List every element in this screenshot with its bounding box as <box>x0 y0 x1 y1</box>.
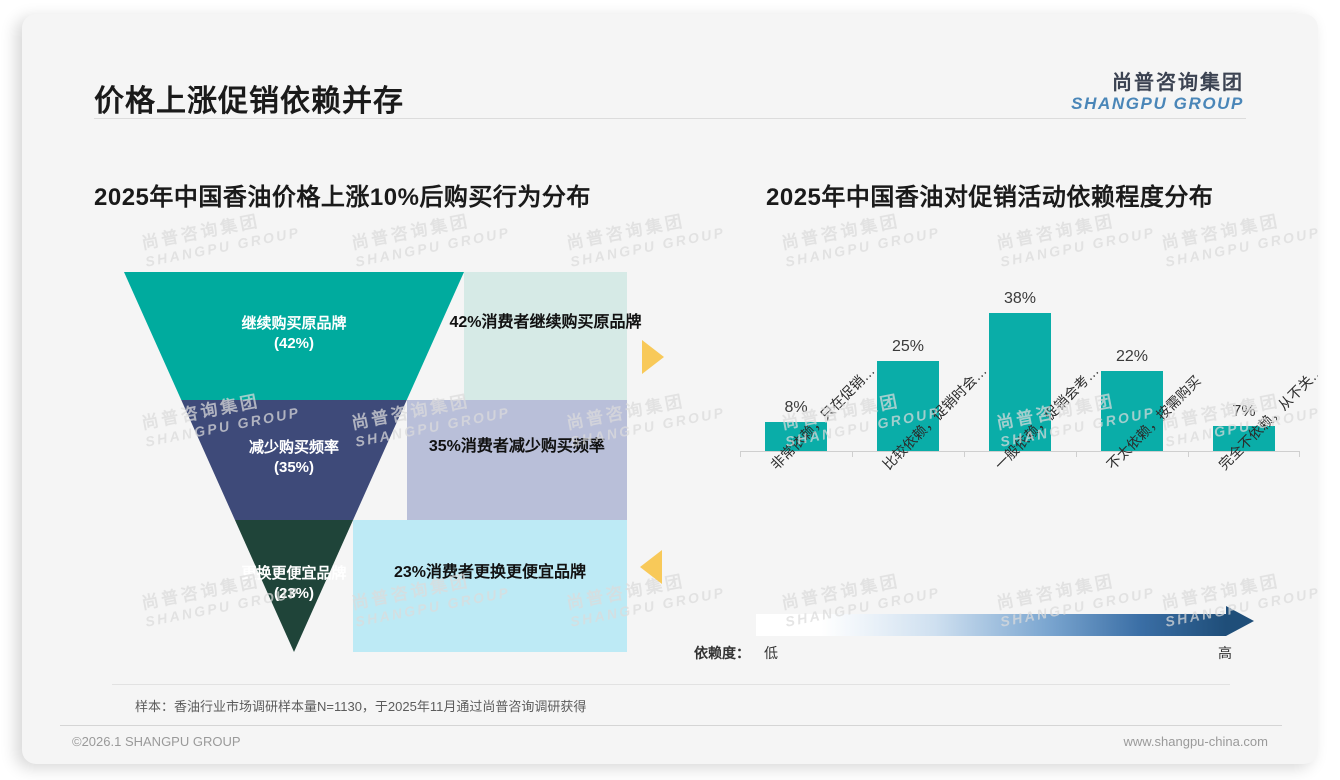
x-axis-tick <box>1188 452 1189 457</box>
dependency-bar-chart: 8%非常依赖，只在促销…25%比较依赖，促销时会…38%一般依赖，促销会考…22… <box>740 284 1300 452</box>
watermark: 尚普咨询集团SHANGPU GROUP <box>780 204 942 269</box>
funnel-stage[interactable]: 减少购买频率(35%)35%消费者减少购买频率 <box>122 400 627 520</box>
funnel-stage-description: 42%消费者继续购买原品牌 <box>446 312 646 334</box>
right-chart-title: 2025年中国香油对促销活动依赖程度分布 <box>766 177 1213 212</box>
bar-value-label: 22% <box>1101 348 1163 371</box>
funnel-chart: 继续购买原品牌(42%)42%消费者继续购买原品牌减少购买频率(35%)35%消… <box>122 272 627 652</box>
footer-copyright: ©2026.1 SHANGPU GROUP <box>72 734 241 749</box>
slide-header: 价格上涨促销依赖并存 尚普咨询集团 SHANGPU GROUP <box>22 14 1318 120</box>
marker-arrow-left-icon <box>640 550 662 584</box>
gradient-arrowhead-icon <box>1226 606 1254 636</box>
slide: 价格上涨促销依赖并存 尚普咨询集团 SHANGPU GROUP 2025年中国香… <box>22 14 1318 764</box>
x-axis-tick <box>852 452 853 457</box>
brand-logo: 尚普咨询集团 SHANGPU GROUP <box>1071 72 1244 113</box>
legend-high-label: 高 <box>1218 643 1232 663</box>
x-axis-tick <box>740 452 741 457</box>
funnel-stage-label: 减少购买频率(35%) <box>164 438 424 479</box>
watermark: 尚普咨询集团SHANGPU GROUP <box>350 204 512 269</box>
funnel-stage-name: 继续购买原品牌 <box>164 314 424 334</box>
header-divider <box>94 118 1246 119</box>
funnel-stage-label: 继续购买原品牌(42%) <box>164 314 424 355</box>
gradient-bar <box>756 614 1226 636</box>
funnel-stage-label: 更换更便宜品牌(23%) <box>164 564 424 605</box>
x-axis-tick <box>1299 452 1300 457</box>
funnel-stage[interactable]: 更换更便宜品牌(23%)23%消费者更换更便宜品牌 <box>122 520 627 652</box>
funnel-stage-value: (42%) <box>164 334 424 354</box>
logo-chinese-text: 尚普咨询集团 <box>1071 72 1244 94</box>
funnel-stage-name: 更换更便宜品牌 <box>164 564 424 584</box>
watermark: 尚普咨询集团SHANGPU GROUP <box>140 204 302 269</box>
bar-value-label: 25% <box>877 338 939 361</box>
logo-english-text: SHANGPU GROUP <box>1071 94 1244 113</box>
funnel-stage-description: 23%消费者更换更便宜品牌 <box>390 562 590 584</box>
funnel-stage-name: 减少购买频率 <box>164 438 424 458</box>
funnel-stage[interactable]: 继续购买原品牌(42%)42%消费者继续购买原品牌 <box>122 272 627 400</box>
legend-caption: 依赖度： <box>694 643 750 663</box>
page-title: 价格上涨促销依赖并存 <box>94 76 404 120</box>
marker-arrow-right-icon <box>642 340 664 374</box>
x-axis-tick <box>964 452 965 457</box>
footnote-divider <box>112 684 1230 685</box>
funnel-stage-description: 35%消费者减少购买频率 <box>417 436 617 458</box>
watermark: 尚普咨询集团SHANGPU GROUP <box>1160 204 1318 269</box>
funnel-stage-value: (35%) <box>164 458 424 478</box>
dependency-gradient-legend: 依赖度： 低 高 <box>694 610 1274 666</box>
funnel-stage-value: (23%) <box>164 584 424 604</box>
sample-footnote: 样本：香油行业市场调研样本量N=1130，于2025年11月通过尚普咨询调研获得 <box>135 696 586 715</box>
footer-website[interactable]: www.shangpu-china.com <box>1123 734 1268 749</box>
footer-divider <box>60 725 1282 726</box>
bar-value-label: 38% <box>989 290 1051 313</box>
left-chart-title: 2025年中国香油价格上涨10%后购买行为分布 <box>94 177 591 212</box>
watermark: 尚普咨询集团SHANGPU GROUP <box>995 204 1157 269</box>
x-axis-tick <box>1076 452 1077 457</box>
watermark: 尚普咨询集团SHANGPU GROUP <box>565 204 727 269</box>
legend-low-label: 低 <box>764 643 778 663</box>
